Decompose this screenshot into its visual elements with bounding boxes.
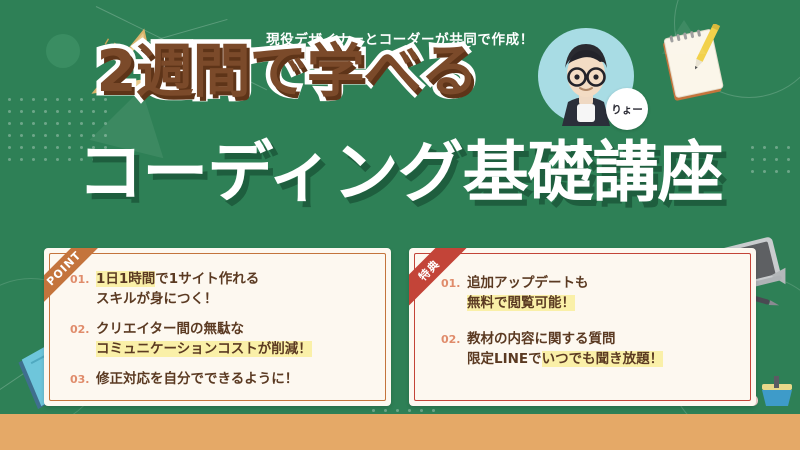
bonus-item-list: 01. 追加アップデートも 無料で閲覧可能！ 02. 教材の内容に関する質問 限… — [423, 268, 742, 369]
item-text-span: 追加アップデートも — [467, 275, 589, 291]
item-line: コミュニケーションコストが削減！ — [96, 340, 377, 360]
item-number: 01. — [70, 270, 96, 286]
item-line: 修正対応を自分でできるように！ — [96, 370, 377, 390]
promotional-banner: 現役デザイナーとコーダーが共同で作成！ 2週間で学べる コーディング基礎講座 — [0, 0, 800, 450]
item-text-span: 限定LINEで — [467, 351, 542, 367]
list-item: 01. 追加アップデートも 無料で閲覧可能！ — [441, 274, 742, 313]
item-text: 1日1時間で1サイト作れる スキルが身につく！ — [96, 270, 377, 309]
list-item: 03. 修正対応を自分でできるように！ — [70, 370, 377, 390]
decorative-circle-outline — [674, 0, 800, 98]
item-line: スキルが身につく！ — [96, 290, 377, 310]
item-line: 限定LINEでいつでも聞き放題！ — [467, 350, 742, 370]
item-number: 03. — [70, 370, 96, 386]
item-number: 01. — [441, 274, 467, 290]
list-item: 02. 教材の内容に関する質問 限定LINEでいつでも聞き放題！ — [441, 330, 742, 369]
list-item: 01. 1日1時間で1サイト作れる スキルが身につく！ — [70, 270, 377, 309]
bonus-card: 特典 01. 追加アップデートも 無料で閲覧可能！ 02. 教材の内容に関する質… — [409, 248, 756, 406]
item-text-span: 教材の内容に関する質問 — [467, 331, 616, 347]
point-item-list: 01. 1日1時間で1サイト作れる スキルが身につく！ 02. クリエイター間の… — [58, 268, 377, 390]
cards-container: POINT 01. 1日1時間で1サイト作れる スキルが身につく！ 02. クリ… — [44, 248, 756, 406]
avatar: りょー — [534, 24, 638, 132]
item-text-span: 修正対応を自分でできるように！ — [96, 371, 298, 387]
item-number: 02. — [70, 320, 96, 336]
item-line: 1日1時間で1サイト作れる — [96, 270, 377, 290]
page-title: コーディング基礎講座 — [0, 140, 800, 206]
item-text: クリエイター間の無駄な コミュニケーションコストが削減！ — [96, 320, 377, 359]
highlight-text: 1日1時間 — [96, 271, 155, 287]
item-text-span: スキルが身につく！ — [96, 291, 218, 307]
highlight-text: いつでも聞き放題！ — [542, 351, 664, 367]
item-line: 無料で閲覧可能！ — [467, 294, 742, 314]
bottom-strip — [0, 414, 800, 450]
headline: 2週間で学べる — [22, 42, 552, 100]
item-text-span: クリエイター間の無駄な — [96, 321, 244, 337]
item-text-span: で1サイト作れる — [155, 271, 259, 287]
item-number: 02. — [441, 330, 467, 346]
item-text: 修正対応を自分でできるように！ — [96, 370, 377, 390]
item-line: クリエイター間の無駄な — [96, 320, 377, 340]
highlight-text: コミュニケーションコストが削減！ — [96, 341, 312, 357]
highlight-text: 無料で閲覧可能！ — [467, 295, 575, 311]
point-card: POINT 01. 1日1時間で1サイト作れる スキルが身につく！ 02. クリ… — [44, 248, 391, 406]
item-text: 追加アップデートも 無料で閲覧可能！ — [467, 274, 742, 313]
list-item: 02. クリエイター間の無駄な コミュニケーションコストが削減！ — [70, 320, 377, 359]
item-line: 追加アップデートも — [467, 274, 742, 294]
item-line: 教材の内容に関する質問 — [467, 330, 742, 350]
item-text: 教材の内容に関する質問 限定LINEでいつでも聞き放題！ — [467, 330, 742, 369]
avatar-name-badge: りょー — [606, 88, 648, 130]
